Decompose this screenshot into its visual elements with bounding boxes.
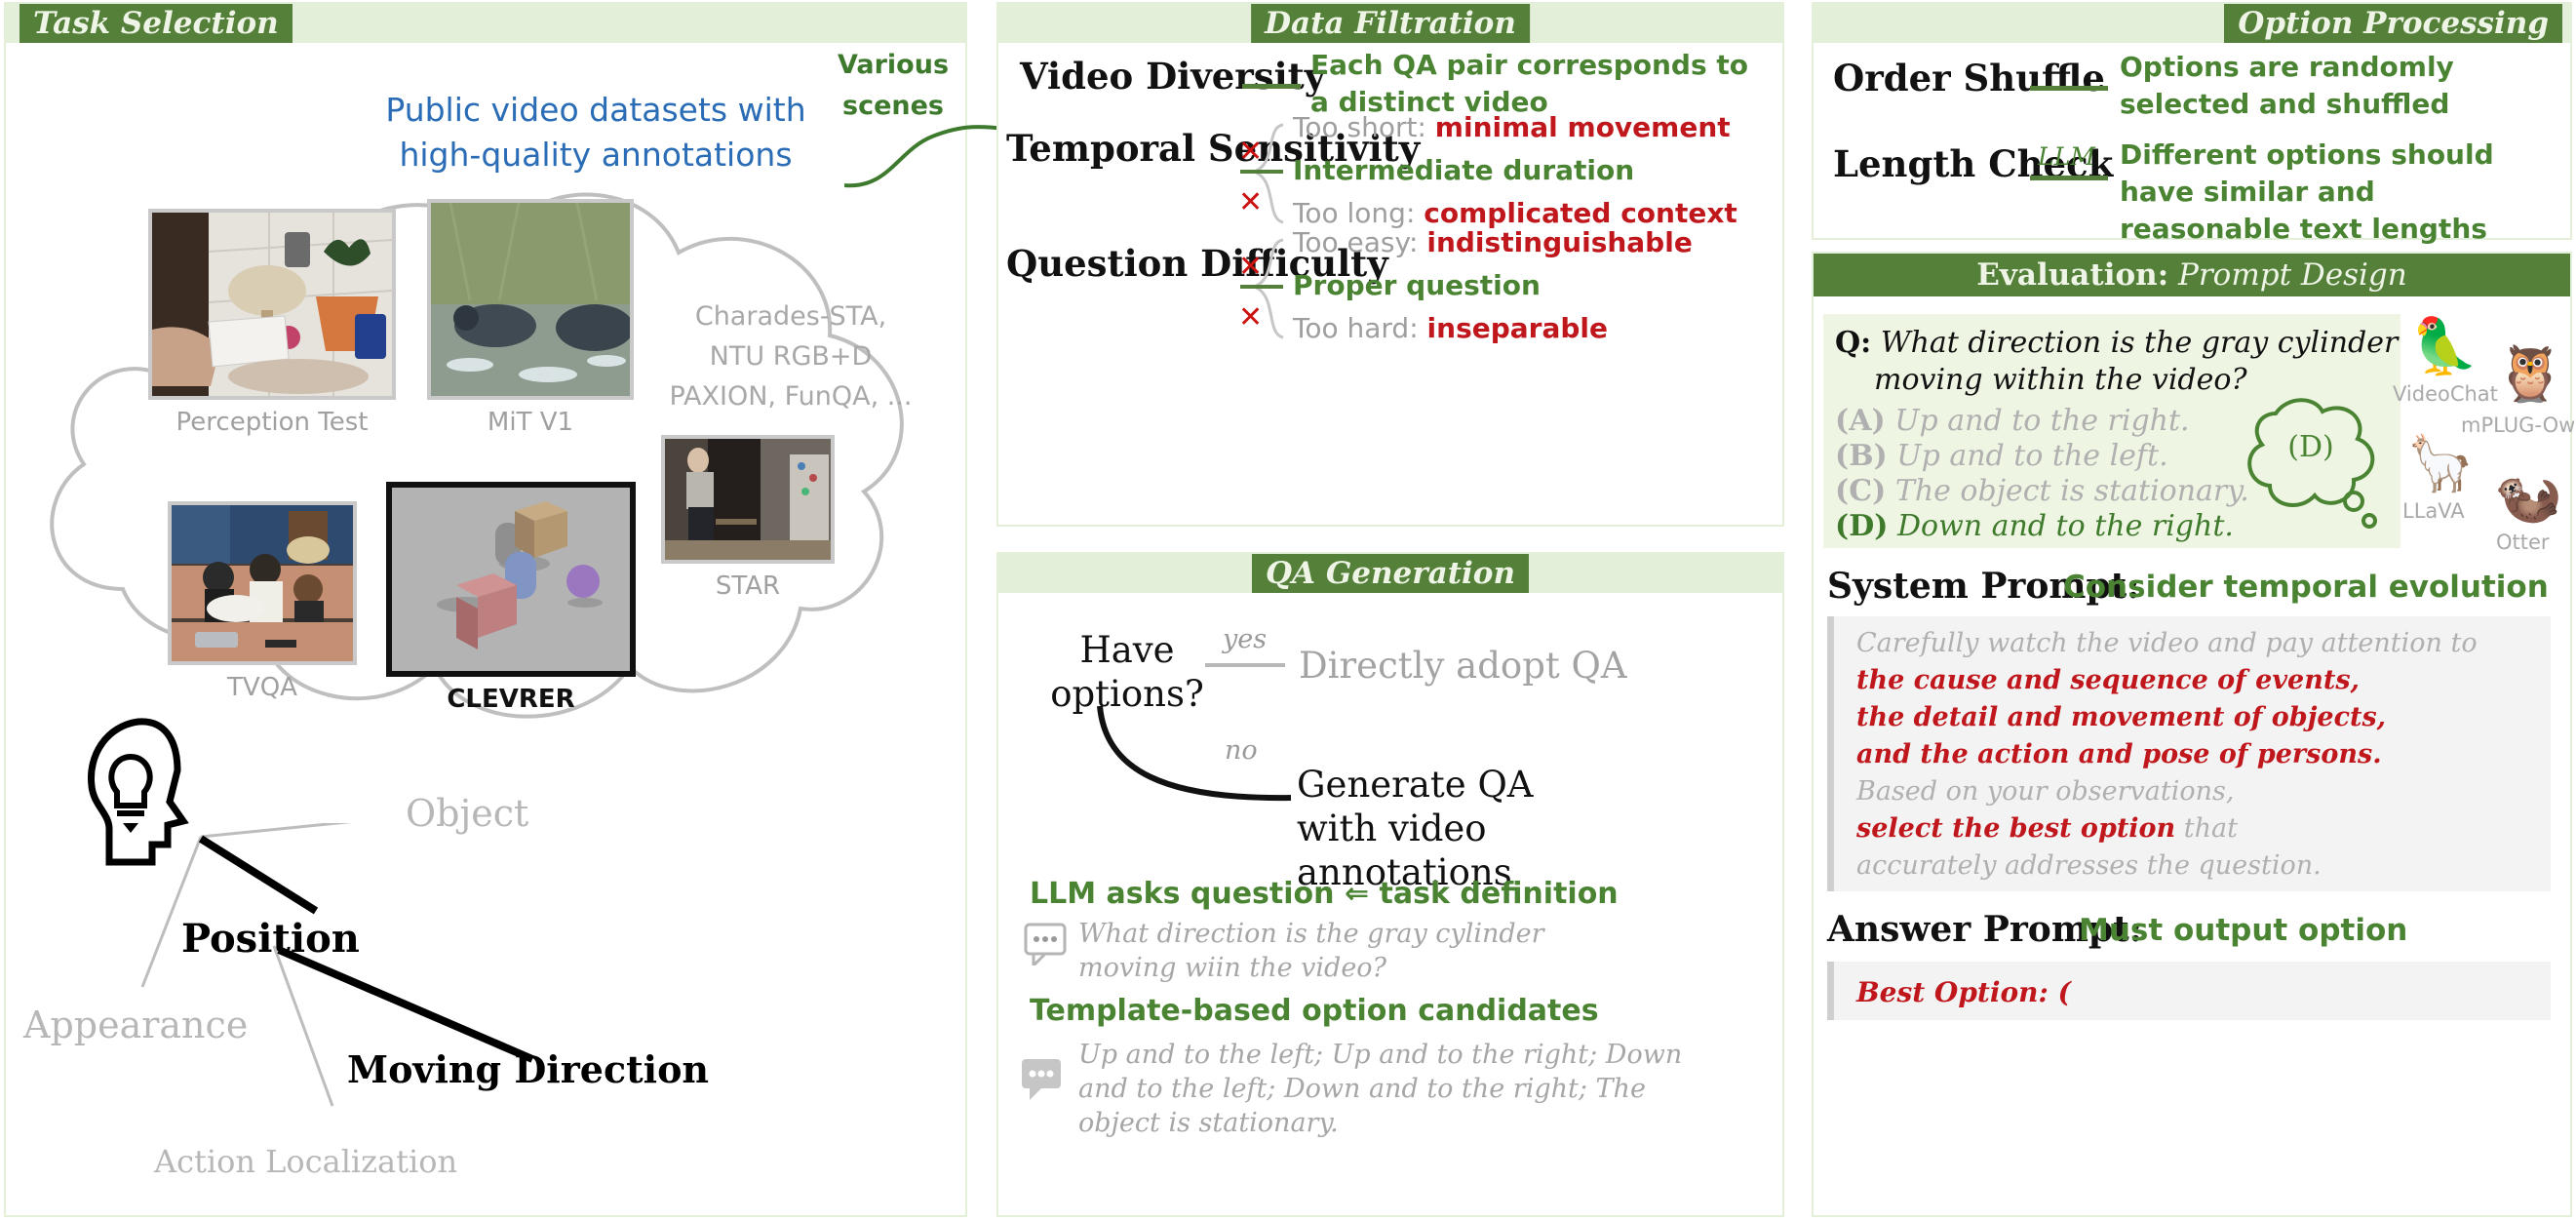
model-label-mplug-owl: mPLUG-Owl [2461, 414, 2576, 437]
thumbnail-label-perception-test: Perception Test [148, 408, 396, 437]
data-filtration-title: Data Filtration [1251, 4, 1530, 43]
temporal-reject-mark-bottom: ✕ [1238, 185, 1263, 219]
qa-branch-label-no: no [1225, 735, 1258, 766]
qa-branch-yes-result: Directly adopt QA [1299, 644, 1627, 688]
system-prompt-line-3: the detail and movement of objects, [1856, 700, 2386, 734]
criterion-label-question-difficulty: Question Difficulty [1006, 242, 1244, 285]
order-shuffle-connector [2030, 86, 2108, 91]
criterion-label-temporal-sensitivity: Temporal Sensitivity [1006, 127, 1244, 170]
system-prompt-line-6: select the best option that [1856, 811, 2238, 846]
qa-step2-example: Up and to the left; Up and to the right;… [1078, 1038, 1702, 1140]
qa-step2-label: Template-based option candidates [1030, 993, 1599, 1030]
thumbnail-label-clevrer: CLEVRER [386, 685, 636, 714]
thumbnail-label-star: STAR [661, 571, 835, 601]
panel-evaluation: Evaluation: Prompt Design Q: What direct… [1812, 252, 2572, 1217]
answer-option-a: (A) Up and to the right. [1835, 402, 2190, 440]
taxonomy-item-object: Object [406, 792, 528, 835]
taxonomy-item-moving-direction: Moving Direction [347, 1047, 709, 1091]
speech-bubble-filled-icon [1020, 1057, 1063, 1100]
thumbnail-clevrer [386, 482, 636, 677]
answer-prompt-text: Best Option: ( [1856, 975, 2071, 1009]
system-prompt-line-4: and the action and pose of persons. [1856, 737, 2382, 771]
qa-step1-example: What direction is the gray cylinder movi… [1078, 917, 1546, 985]
thumbnail-label-mit-v1: MiT V1 [427, 408, 634, 437]
system-prompt-line-7: accurately addresses the question. [1856, 848, 2322, 883]
thumbnail-perception-test [148, 209, 396, 400]
option-row-label-length-check: Length Check [1833, 142, 2018, 185]
thumbnail-mit-v1 [427, 199, 634, 400]
qa-generation-header: QA Generation [998, 554, 1782, 593]
svg-text:(D): (D) [2287, 430, 2333, 464]
cloud-title: Public video datasets with high-quality … [342, 88, 849, 177]
video-diversity-connector [1242, 84, 1301, 89]
panel-task-selection: Task Selection Public video datasets wit… [4, 2, 967, 1217]
taxonomy-connector-lines [84, 823, 883, 1145]
parrot-icon: 🦜 [2410, 320, 2478, 374]
temporal-option-too-short: Too short: minimal movement [1293, 109, 1731, 147]
qa-step1-label: LLM asks question ⇐ task definition [1030, 876, 1619, 913]
speech-bubble-outline-icon [1024, 923, 1067, 965]
system-prompt-line-2: the cause and sequence of events, [1856, 663, 2360, 697]
qa-no-branch-arc-icon [1096, 706, 1310, 813]
taxonomy-item-appearance: Appearance [23, 1004, 248, 1046]
model-label-llava: LLaVA [2402, 499, 2465, 523]
otter-icon: 🦦 [2494, 470, 2562, 525]
option-row-desc-length-check: Different options should have similar an… [2120, 137, 2539, 248]
taxonomy-item-position: Position [181, 916, 360, 962]
system-prompt-line-5: Based on your observations, [1856, 774, 2234, 808]
task-selection-title: Task Selection [20, 4, 293, 43]
option-row-label-order-shuffle: Order Shuffle [1833, 57, 2018, 99]
cloud-diagram: Public video datasets with high-quality … [6, 43, 965, 1213]
qa-branch-label-yes: yes [1223, 624, 1267, 654]
answer-option-d: (D) Down and to the right. [1835, 507, 2234, 545]
thought-bubble-icon: (D) [2233, 392, 2389, 538]
question-line-2: moving within the video? [1874, 361, 2247, 399]
option-processing-title: Option Processing [2224, 4, 2562, 43]
answer-prompt-note: Must output option [2079, 913, 2407, 948]
dataset-name-list: Charades-STA, NTU RGB+D PAXION, FunQA, .… [669, 296, 913, 416]
system-prompt-line-1: Carefully watch the video and pay attent… [1856, 626, 2478, 660]
temporal-option-intermediate: Intermediate duration [1293, 152, 1634, 190]
various-scenes-connector-icon [844, 92, 1020, 199]
difficulty-option-too-easy: Too easy: indistinguishable [1293, 224, 1693, 262]
option-processing-header: Option Processing [1814, 4, 2570, 43]
difficulty-option-too-hard: Too hard: inseparable [1293, 310, 1608, 348]
answer-option-c: (C) The object is stationary. [1835, 472, 2249, 510]
thumbnail-star [661, 435, 835, 564]
task-selection-header: Task Selection [6, 4, 965, 43]
option-row-desc-order-shuffle: Options are randomly selected and shuffl… [2120, 49, 2529, 123]
difficulty-accept-connector [1240, 285, 1283, 289]
taxonomy-item-action-localization: Action Localization [154, 1143, 457, 1180]
thumbnail-label-tvqa: TVQA [168, 673, 357, 702]
data-filtration-header: Data Filtration [998, 4, 1782, 43]
temporal-accept-connector [1240, 170, 1283, 174]
difficulty-reject-mark-top: ✕ [1238, 250, 1263, 284]
length-check-connector [2030, 176, 2108, 180]
answer-option-b: (B) Up and to the left. [1835, 437, 2168, 475]
thumbnail-tvqa [168, 501, 357, 665]
panel-data-filtration: Data Filtration Video Diversity Each QA … [996, 2, 1784, 527]
owl-icon: 🦉 [2496, 347, 2564, 402]
criterion-label-video-diversity: Video Diversity [1020, 55, 1234, 98]
figure-root: Task Selection Public video datasets wit… [0, 0, 2576, 1221]
evaluation-title-bold: Evaluation: [1976, 257, 2168, 293]
panel-qa-generation: QA Generation Have options? yes Directly… [996, 552, 1784, 1217]
system-prompt-note: Consider temporal evolution [2063, 570, 2549, 605]
model-label-otter: Otter [2496, 531, 2550, 554]
temporal-reject-mark-top: ✕ [1238, 135, 1263, 169]
question-line-1: Q: What direction is the gray cylinder [1835, 324, 2398, 362]
qa-yes-connector [1205, 663, 1285, 667]
panel-option-processing: Option Processing Order Shuffle Options … [1812, 2, 2572, 240]
difficulty-option-proper: Proper question [1293, 267, 1541, 305]
evaluation-header: Evaluation: Prompt Design [1814, 254, 2570, 296]
evaluation-title-italic: Prompt Design [2178, 257, 2407, 293]
difficulty-reject-mark-bottom: ✕ [1238, 300, 1263, 335]
length-check-tag: LLM [2038, 142, 2095, 171]
qa-generation-title: QA Generation [1252, 554, 1529, 593]
model-label-videochat: VideoChat [2393, 382, 2498, 406]
qa-branch-no-result: Generate QA with video annotations [1297, 763, 1619, 894]
qa-decision-node: Have options? [1020, 628, 1234, 716]
llama-icon: 🦙 [2406, 437, 2475, 492]
